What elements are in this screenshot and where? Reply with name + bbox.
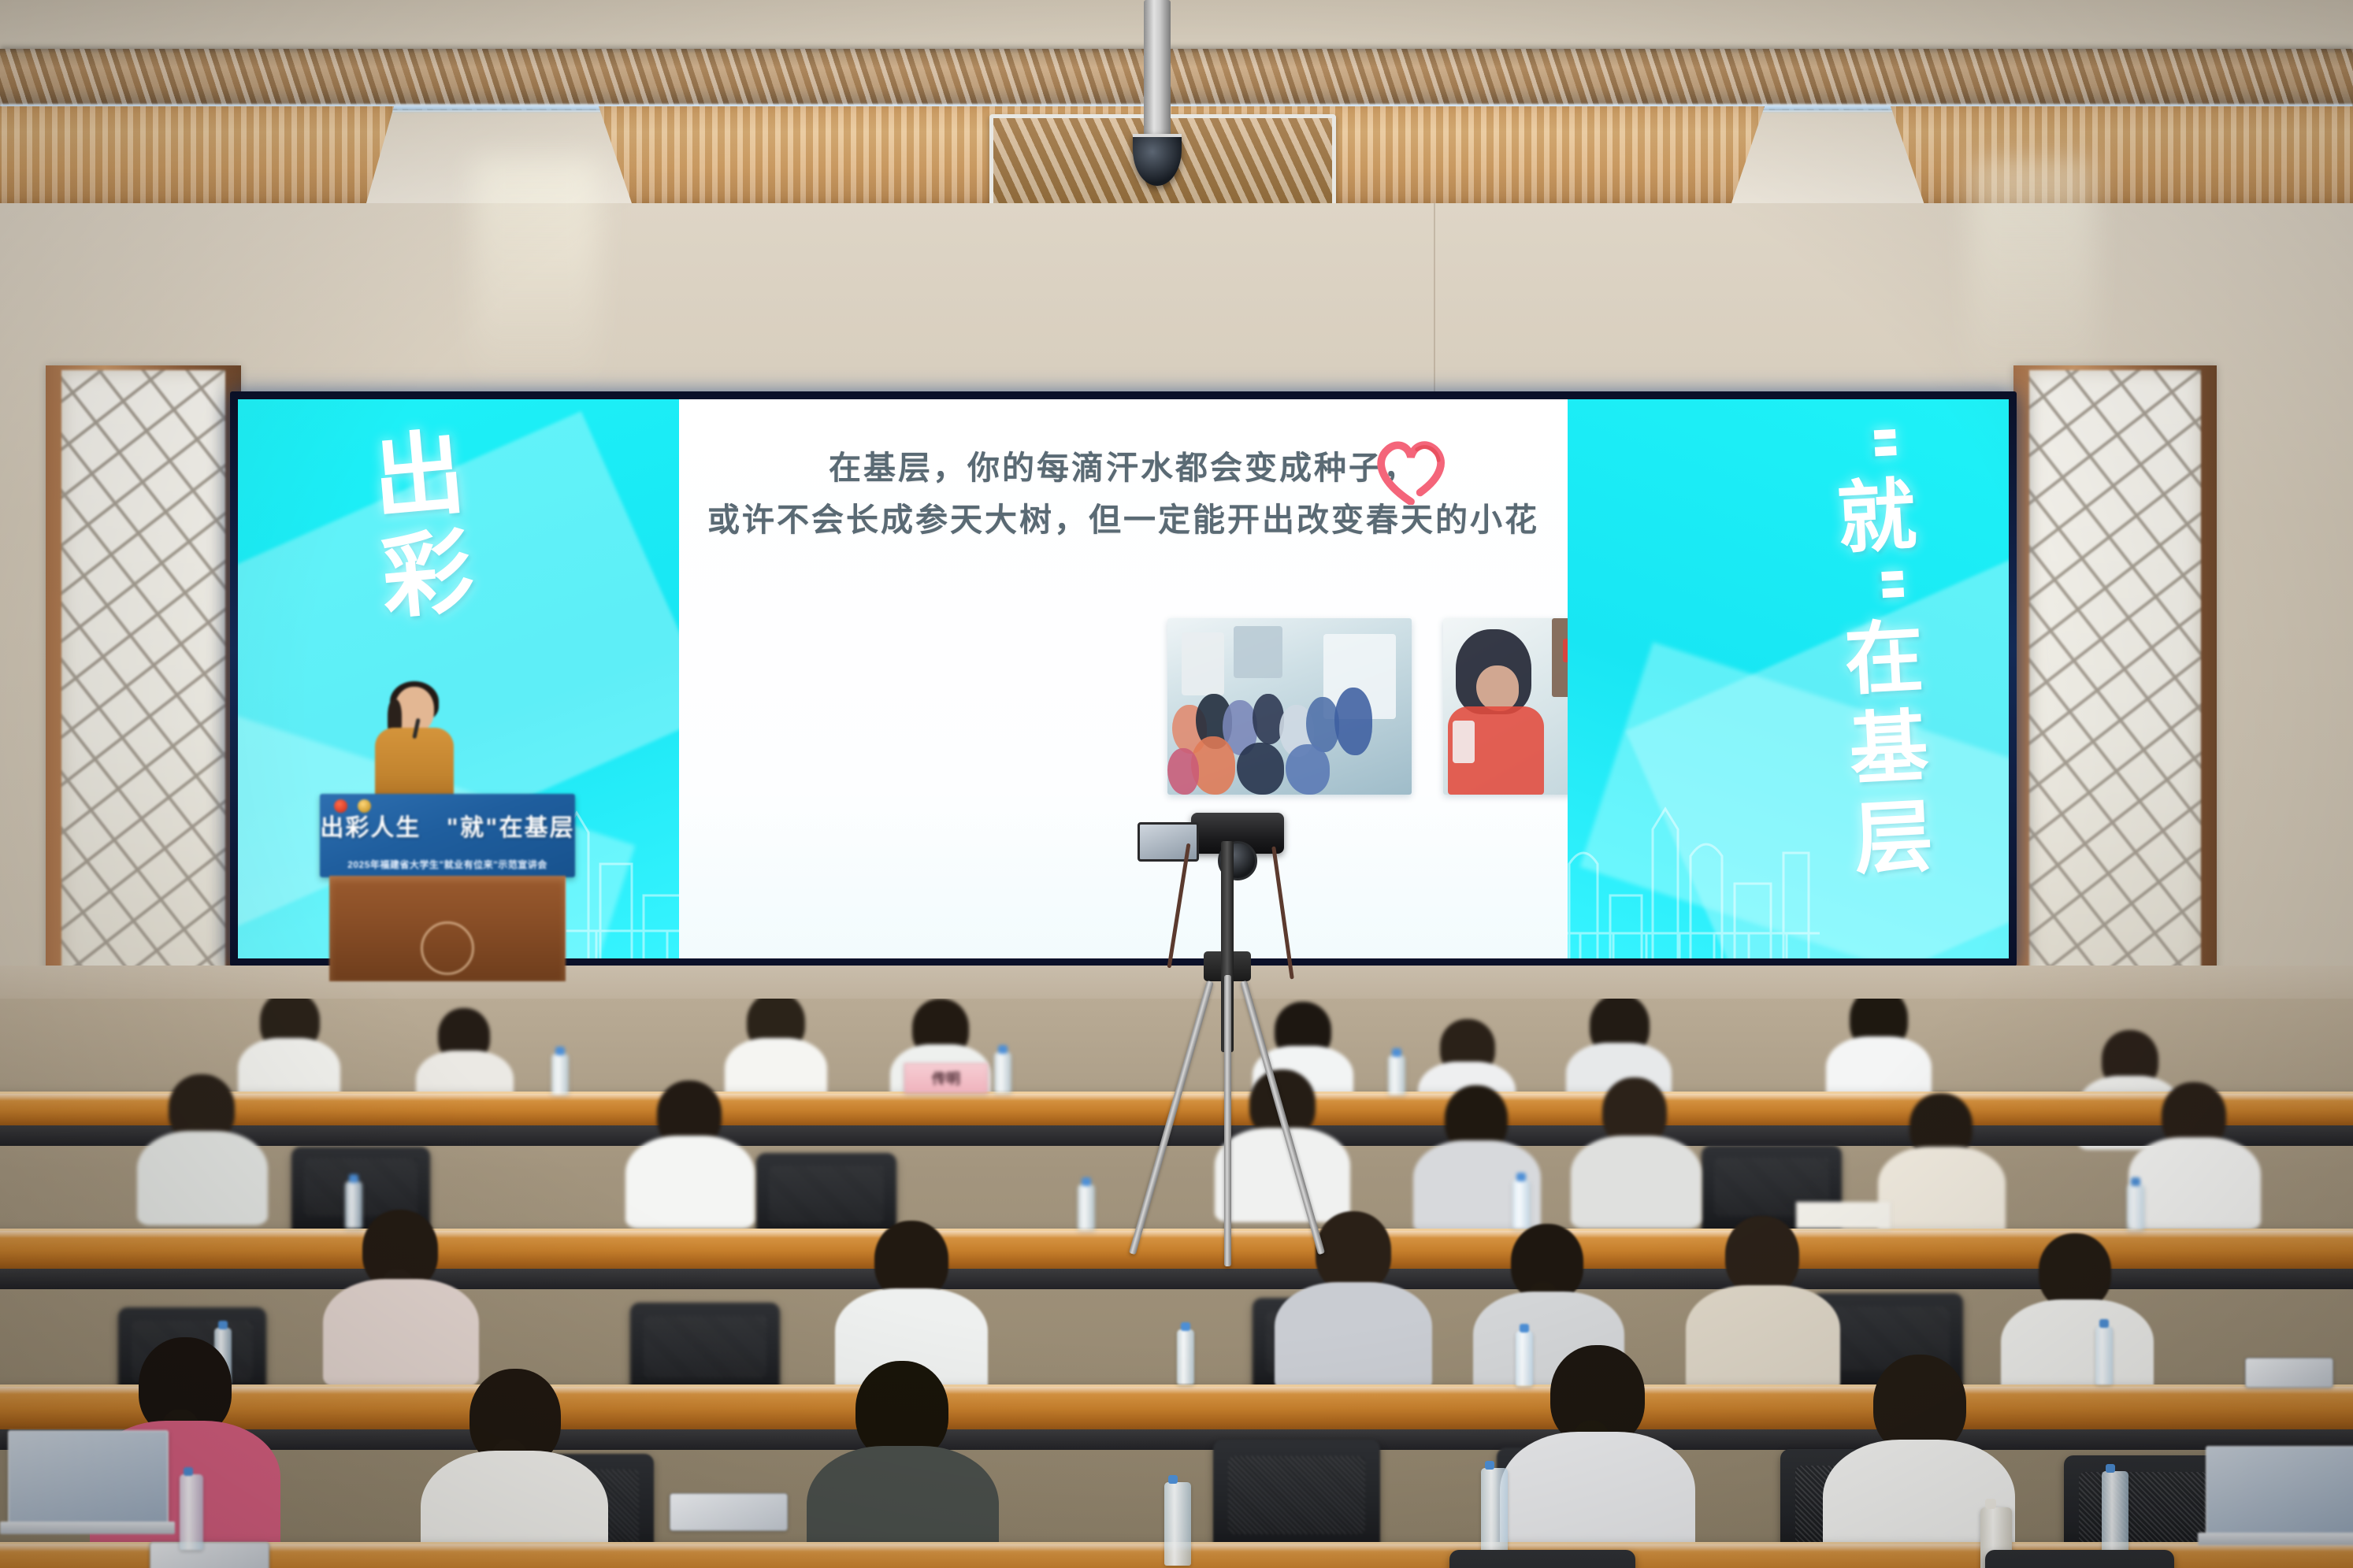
podium-banner: 出彩人生 "就"在基层 2025年福建省大学生"就业有位来"示范宣讲会: [320, 794, 575, 877]
smartphone: [150, 1542, 269, 1568]
presenter-at-podium: [369, 687, 460, 805]
smartphone: [670, 1493, 788, 1531]
water-bottle: [1164, 1482, 1191, 1566]
tripod-leg: [1224, 975, 1231, 1266]
tripod-leg: [1129, 980, 1214, 1255]
slide-right-calligraphy: "就"在基层: [1828, 421, 1927, 888]
wooden-tiered-desk: [0, 1385, 2353, 1433]
water-bottle: [2102, 1471, 2128, 1558]
water-bottle: [2127, 1184, 2144, 1230]
camera-strap: [1271, 846, 1294, 979]
water-bottle: [180, 1474, 203, 1550]
water-bottle: [1388, 1055, 1405, 1095]
city-skyline-graphic-right: [1568, 777, 1820, 958]
wall-wash-light: [473, 158, 599, 394]
slide-content-card: 在基层，你的每滴汗水都会变成种子， 或许不会长成参天大树，但一定能开出改变春天的…: [679, 399, 1568, 958]
ceiling-soffit-right: [1891, 106, 2353, 209]
university-crest: [421, 921, 474, 975]
water-bottle: [551, 1054, 569, 1095]
dslr-camera-on-tripod[interactable]: [1142, 794, 1331, 1282]
projector-mount-pipe: [1144, 0, 1171, 150]
slide-right-cyan-panel: "就"在基层: [1568, 399, 2009, 958]
podium-banner-subtitle: 2025年福建省大学生"就业有位来"示范宣讲会: [320, 858, 575, 871]
black-mesh-chair: [1449, 1550, 1635, 1568]
podium-body: [329, 876, 566, 981]
podium: 出彩人生 "就"在基层 2025年福建省大学生"就业有位来"示范宣讲会: [320, 794, 575, 981]
tripod-leg: [1240, 980, 1325, 1255]
chinese-lattice-screen-panel: [2029, 370, 2201, 1005]
lecture-hall-scene: 出彩 在基层，你的每滴汗水都会变成种子， 或许不会长成参天大树，但一定能开出改变…: [0, 0, 2353, 1568]
black-mesh-chair: [1985, 1550, 2174, 1568]
chinese-lattice-screen-panel: [61, 370, 225, 1005]
water-bottle: [1177, 1329, 1194, 1385]
water-bottle: [994, 1052, 1011, 1093]
woven-wood-ceiling-band: [0, 49, 2353, 110]
ceiling-soffit-left: [0, 106, 394, 209]
water-bottle: [1078, 1184, 1095, 1230]
black-mesh-chair: [1213, 1440, 1380, 1558]
water-bottle: [1512, 1180, 1530, 1229]
black-mesh-chair: [630, 1303, 780, 1397]
water-bottle: [1516, 1331, 1533, 1386]
slide-left-calligraphy: 出彩: [363, 424, 467, 630]
smartphone: [2245, 1358, 2333, 1388]
handout-paper: [1796, 1202, 1891, 1229]
podium-banner-title: 出彩人生 "就"在基层: [320, 808, 575, 843]
camera-strap: [1167, 843, 1191, 969]
heart-brush-logo: [1372, 437, 1449, 505]
water-bottle: [345, 1181, 362, 1229]
name-card: 传明: [904, 1063, 988, 1093]
wall-wash-light: [1969, 158, 2095, 394]
water-bottle: [2095, 1326, 2113, 1385]
children-classroom-photo: [1167, 618, 1412, 795]
water-bottle: [1481, 1468, 1508, 1555]
external-monitor: [1138, 822, 1199, 862]
